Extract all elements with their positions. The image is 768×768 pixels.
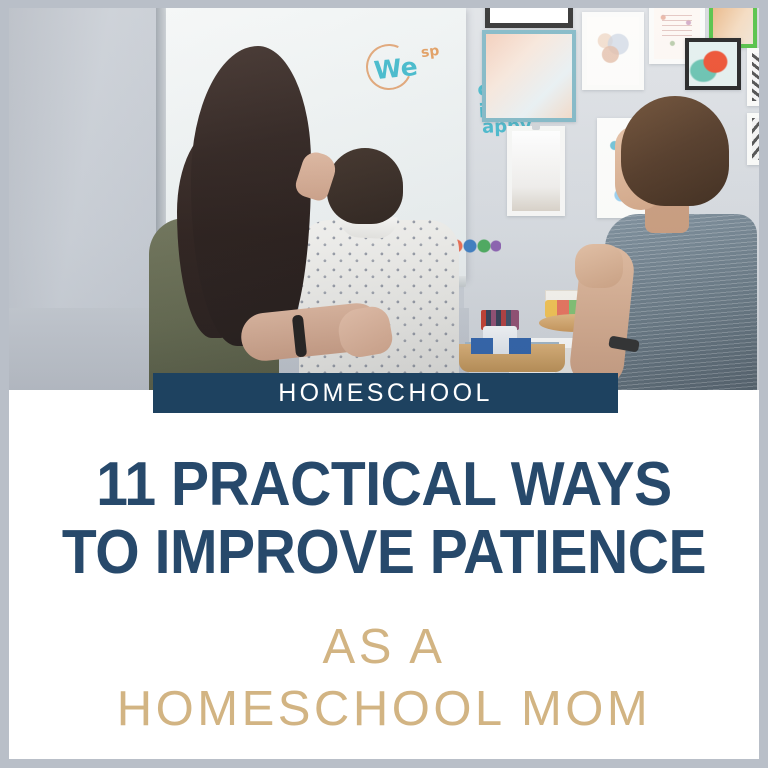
teen-boy-hand	[575, 244, 623, 288]
teen-boy-hair	[621, 96, 729, 206]
framed-art-1	[485, 8, 573, 28]
blue-supply-box-2	[509, 338, 531, 354]
whiteboard-note-1: sp	[420, 43, 440, 61]
blue-supply-box-1	[471, 338, 493, 354]
whiteboard-note-0: We	[373, 52, 419, 85]
hanging-paper	[507, 126, 565, 216]
pin-card: We sp do sp camping, it ca appy	[0, 0, 768, 768]
category-badge-label: HOMESCHOOL	[278, 379, 493, 408]
framed-art-7	[747, 48, 759, 106]
child-shirt	[299, 220, 459, 390]
title-line-2: TO IMPROVE PATIENCE	[39, 520, 729, 586]
framed-art-3	[582, 12, 644, 90]
mom-hair	[191, 46, 311, 346]
framed-art-2	[482, 30, 576, 122]
title-line-1: 11 PRACTICAL WAYS	[39, 452, 729, 518]
subtitle-line-2: HOMESCHOOL MOM	[9, 681, 759, 737]
hero-photo: We sp do sp camping, it ca appy	[9, 8, 759, 390]
framed-art-8	[747, 113, 759, 165]
subtitle-line-1: AS A	[9, 619, 759, 675]
framed-art-6	[685, 38, 741, 90]
category-badge[interactable]: HOMESCHOOL	[153, 373, 618, 413]
title-block: 11 PRACTICAL WAYS TO IMPROVE PATIENCE AS…	[9, 390, 759, 758]
child-head	[327, 148, 403, 224]
pin-inner-canvas: We sp do sp camping, it ca appy	[9, 8, 759, 759]
